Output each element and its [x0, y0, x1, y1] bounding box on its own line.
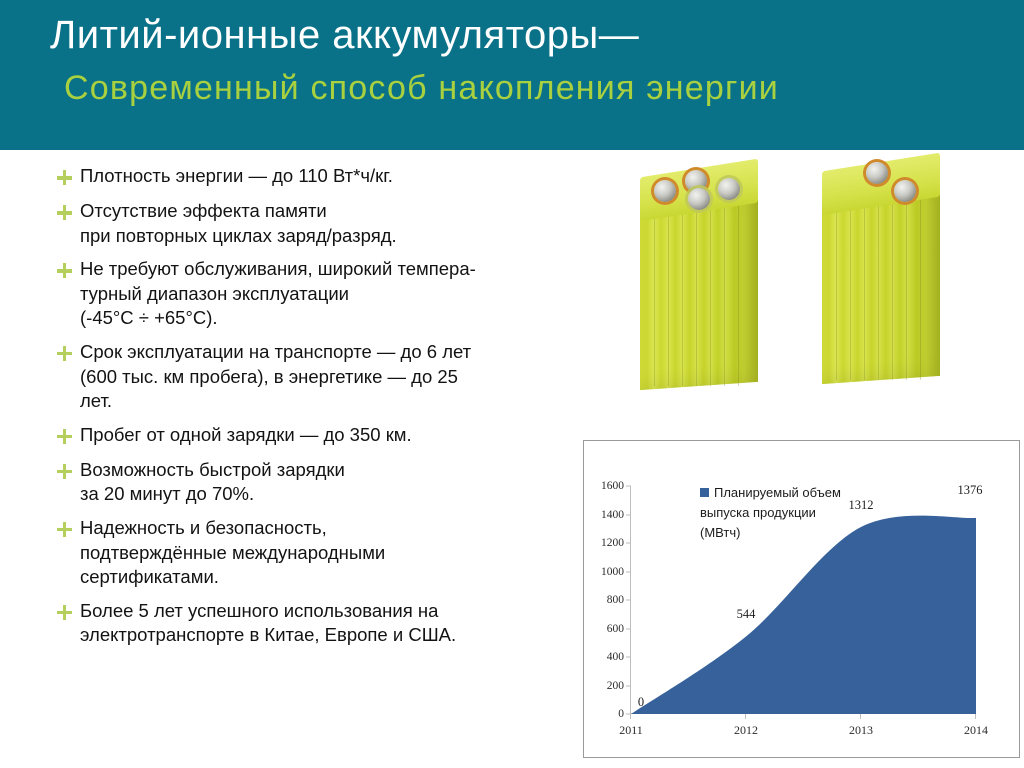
feature-bullet-list: Плотность энергии — до 110 Вт*ч/кг.Отсут…	[54, 164, 594, 657]
battery-cell-groove	[864, 188, 865, 380]
battery-terminal-icon	[654, 180, 676, 202]
plus-bullet-icon	[54, 342, 80, 366]
y-axis-tick-mark	[626, 657, 631, 658]
bullet-item: Отсутствие эффекта памяти при повторных …	[54, 199, 594, 248]
battery-cell-left	[640, 168, 758, 386]
y-axis-tick-mark	[626, 543, 631, 544]
y-axis-tick-mark	[626, 514, 631, 515]
bullet-item-text: Более 5 лет успешного использования на э…	[80, 599, 594, 648]
bullet-item-text: Возможность быстрой зарядки за 20 минут …	[80, 458, 594, 507]
x-axis-tick-label: 2012	[734, 723, 758, 738]
battery-terminal-icon	[894, 180, 916, 202]
bullet-item: Более 5 лет успешного использования на э…	[54, 599, 594, 648]
y-axis-tick-mark	[626, 685, 631, 686]
y-axis-tick-label: 200	[607, 680, 624, 692]
bullet-item-text: Срок эксплуатации на транспорте — до 6 л…	[80, 340, 594, 414]
y-axis-tick-label: 600	[607, 623, 624, 635]
battery-cell-groove	[724, 194, 725, 386]
bullet-item-text: Не требуют обслуживания, широкий темпера…	[80, 257, 594, 331]
bullet-item: Надежность и безопасность, подтверждённы…	[54, 516, 594, 590]
bullet-item-text: Плотность энергии — до 110 Вт*ч/кг.	[80, 164, 594, 189]
battery-terminal-icon	[688, 188, 710, 210]
battery-cell-groove	[682, 194, 683, 386]
bullet-item-text: Пробег от одной зарядки — до 350 км.	[80, 423, 594, 448]
plus-bullet-icon	[54, 166, 80, 190]
battery-cell-groove	[710, 194, 711, 386]
x-axis-tick-mark	[745, 714, 746, 719]
x-axis-tick-label: 2011	[619, 723, 643, 738]
battery-cell-groove	[738, 194, 739, 386]
x-axis-tick-label: 2013	[849, 723, 873, 738]
plus-bullet-icon	[54, 518, 80, 542]
plus-bullet-icon	[54, 425, 80, 449]
x-axis-tick-mark	[630, 714, 631, 719]
y-axis-tick-label: 800	[607, 594, 624, 606]
battery-cell-groove	[850, 188, 851, 380]
battery-cell-groove	[668, 194, 669, 386]
battery-cell-groove	[906, 188, 907, 380]
bullet-item: Пробег от одной зарядки — до 350 км.	[54, 423, 594, 449]
y-axis-tick-mark	[626, 628, 631, 629]
battery-terminal-icon	[866, 162, 888, 184]
x-axis-tick-label: 2014	[964, 723, 988, 738]
battery-terminal-icon	[718, 178, 740, 200]
y-axis-tick-mark	[626, 571, 631, 572]
y-axis-tick-label: 400	[607, 651, 624, 663]
data-point-label: 544	[737, 607, 756, 622]
bullet-item: Срок эксплуатации на транспорте — до 6 л…	[54, 340, 594, 414]
battery-cell-groove	[836, 188, 837, 380]
battery-cell-groove	[696, 194, 697, 386]
y-axis-tick-mark	[626, 486, 631, 487]
slide-subtitle: Современный способ накопления энергии	[64, 70, 1024, 107]
legend-label: Планируемый объем выпуска продукции (МВт…	[700, 485, 841, 540]
plus-bullet-icon	[54, 601, 80, 625]
legend-color-swatch	[700, 488, 709, 497]
y-axis-tick-label: 1000	[601, 566, 624, 578]
lithium-ion-prismatic-cells-photo	[620, 158, 1020, 478]
battery-cell-body	[640, 190, 758, 390]
battery-cell-groove	[878, 188, 879, 380]
bullet-item: Плотность энергии — до 110 Вт*ч/кг.	[54, 164, 594, 190]
slide-title: Литий-ионные аккумуляторы—	[50, 14, 1010, 57]
plus-bullet-icon	[54, 259, 80, 283]
battery-cell-groove	[892, 188, 893, 380]
bullet-item: Не требуют обслуживания, широкий темпера…	[54, 257, 594, 331]
bullet-item-text: Отсутствие эффекта памяти при повторных …	[80, 199, 594, 248]
bullet-item-text: Надежность и безопасность, подтверждённы…	[80, 516, 594, 590]
production-volume-area-chart: 1600140012001000800600400200020112012201…	[583, 440, 1020, 758]
x-axis-tick-mark	[975, 714, 976, 719]
y-axis-tick-label: 1200	[601, 537, 624, 549]
y-axis-tick-label: 1600	[601, 480, 624, 492]
y-axis-tick-mark	[626, 600, 631, 601]
battery-cell-groove	[654, 194, 655, 386]
battery-cell-groove	[920, 188, 921, 380]
data-point-label: 1376	[958, 483, 983, 498]
plus-bullet-icon	[54, 460, 80, 484]
plus-bullet-icon	[54, 201, 80, 225]
area-series-path	[631, 516, 976, 714]
chart-legend: Планируемый объем выпуска продукции (МВт…	[700, 483, 870, 543]
y-axis-tick-label: 0	[618, 708, 624, 720]
y-axis-tick-label: 1400	[601, 509, 624, 521]
battery-cell-body	[822, 184, 940, 384]
battery-cell-right	[822, 162, 940, 380]
x-axis-tick-mark	[860, 714, 861, 719]
bullet-item: Возможность быстрой зарядки за 20 минут …	[54, 458, 594, 507]
data-point-label: 0	[638, 695, 644, 710]
